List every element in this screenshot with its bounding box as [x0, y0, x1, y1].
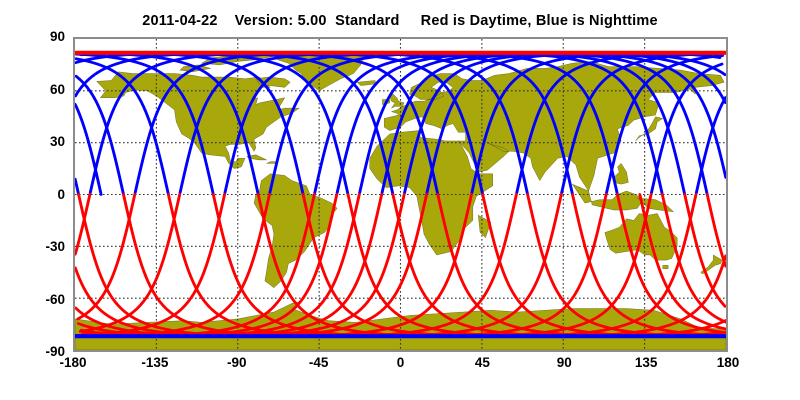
nighttime-track-segment: [696, 98, 725, 193]
x-tick-label: 135: [606, 356, 686, 370]
nighttime-track-segment: [76, 76, 123, 194]
nighttime-track-segment: [562, 53, 723, 193]
x-tick-label: 0: [361, 356, 441, 370]
y-tick-label: 60: [5, 83, 65, 97]
daytime-track-segment: [662, 195, 725, 323]
x-tick-label: 180: [688, 356, 768, 370]
daytime-track-segment: [75, 195, 90, 255]
nighttime-track-segment: [517, 53, 716, 193]
map-plot-area: [73, 37, 728, 352]
figure-title: 2011-04-22 Version: 5.00 Standard Red is…: [0, 13, 800, 29]
y-tick-label: -30: [5, 240, 65, 254]
x-tick-label: -45: [279, 356, 359, 370]
ground-track-figure: 2011-04-22 Version: 5.00 Standard Red is…: [0, 0, 800, 400]
nighttime-track-segment: [75, 104, 101, 194]
y-tick-label: 90: [5, 30, 65, 44]
y-tick-label: 30: [5, 135, 65, 149]
nighttime-track-segment: [81, 53, 303, 194]
x-tick-label: -135: [115, 356, 195, 370]
x-tick-label: -90: [197, 356, 277, 370]
x-tick-label: -180: [33, 356, 113, 370]
nighttime-track-segment: [75, 53, 392, 194]
nighttime-track-segment: [75, 179, 78, 194]
daytime-track-segment: [438, 195, 726, 336]
daytime-track-segment: [76, 195, 382, 336]
y-tick-label: 0: [5, 188, 65, 202]
x-tick-label: 45: [442, 356, 522, 370]
satellite-ground-tracks: [75, 39, 726, 350]
nighttime-track-segment: [84, 53, 258, 194]
y-tick-label: -60: [5, 293, 65, 307]
daytime-track-segment: [81, 195, 337, 336]
daytime-track-segment: [707, 195, 725, 267]
x-tick-label: 90: [524, 356, 604, 370]
